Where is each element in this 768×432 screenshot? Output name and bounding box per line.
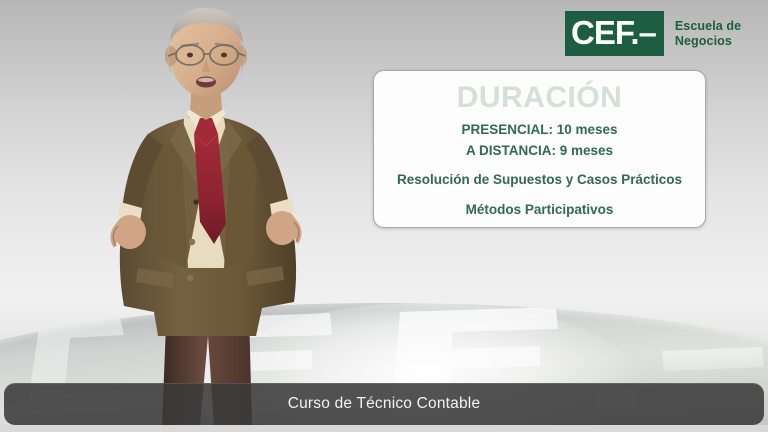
- frame-bottom-strip: [0, 425, 768, 432]
- panel-line-distancia: A DISTANCIA: 9 meses: [374, 140, 705, 161]
- cef-logo: CEF.– Escuela de Negocios: [567, 11, 741, 56]
- panel-line-resolucion: Resolución de Supuestos y Casos Práctico…: [374, 169, 705, 190]
- cef-logo-tagline-line1: Escuela de: [675, 19, 741, 34]
- presenter-figure: [96, 6, 326, 426]
- cef-logo-tagline-line2: Negocios: [675, 34, 741, 49]
- panel-title: DURACIÓN: [374, 81, 705, 115]
- cef-logo-tagline: Escuela de Negocios: [675, 19, 741, 49]
- panel-line-presencial: PRESENCIAL: 10 meses: [374, 119, 705, 140]
- panel-line-metodos: Métodos Participativos: [374, 199, 705, 220]
- video-frame: CEF.– Escuela de Negocios DURACIÓN PRESE…: [0, 0, 768, 432]
- cef-logo-mark: CEF.–: [565, 11, 664, 56]
- caption-bar: Curso de Técnico Contable: [4, 383, 764, 425]
- slide-panel: DURACIÓN PRESENCIAL: 10 meses A DISTANCI…: [373, 70, 706, 228]
- caption-text: Curso de Técnico Contable: [288, 395, 481, 413]
